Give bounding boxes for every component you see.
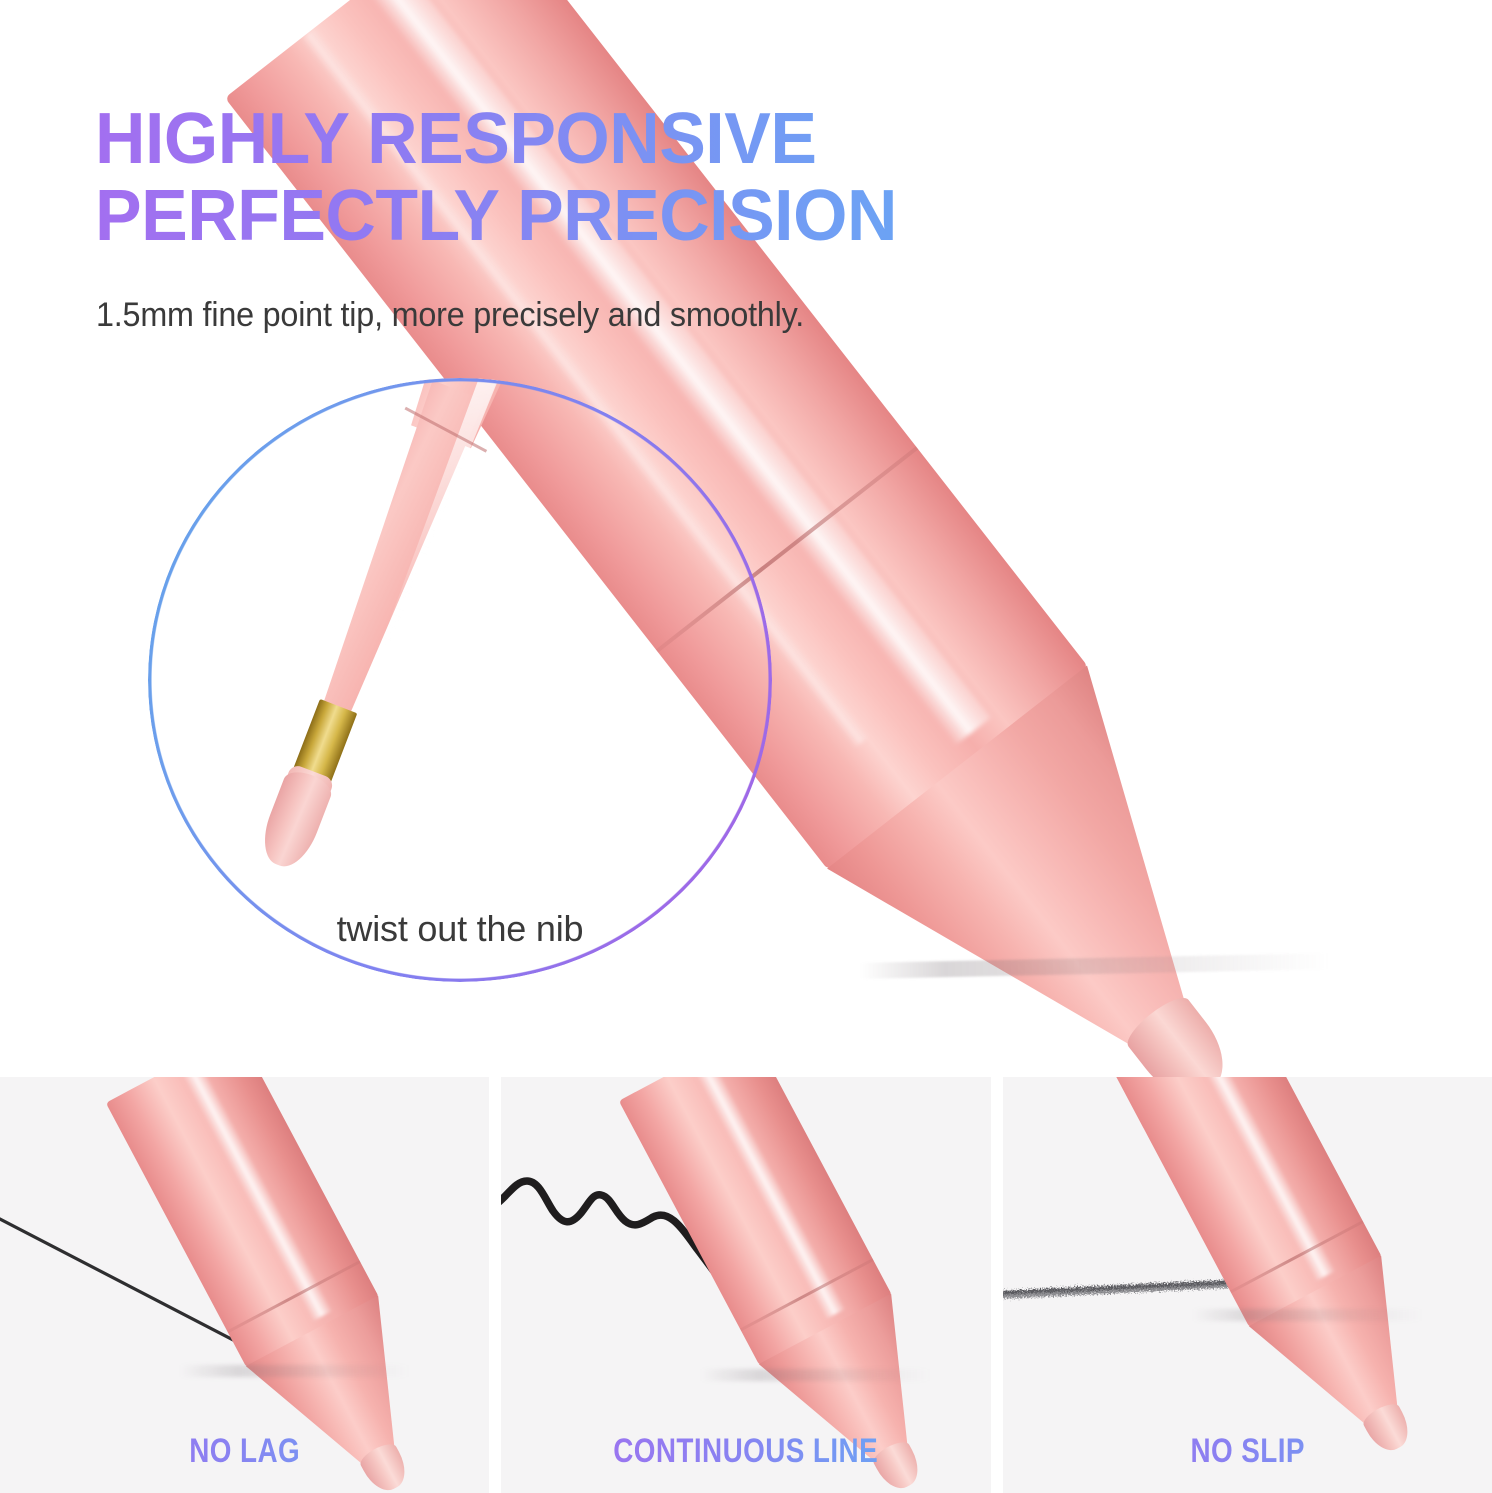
headline-line-2: PERFECTLY PRECISION: [95, 181, 1065, 252]
nib-callout-circle: [148, 378, 772, 982]
panel-no-lag: NO LAG: [0, 1077, 489, 1493]
panel1-shadow: [180, 1365, 410, 1377]
headline-line-1: HIGHLY RESPONSIVE: [95, 104, 1065, 175]
panel-no-slip: NO SLIP: [1003, 1077, 1492, 1493]
feature-panels-row: NO LAG CONTINUOUS LINE: [0, 1077, 1492, 1493]
callout-caption: twist out the nib: [148, 908, 772, 950]
panel-label-no-lag: NO LAG: [44, 1432, 445, 1471]
panel-label-continuous-line: CONTINUOUS LINE: [545, 1432, 946, 1471]
product-feature-graphic: HIGHLY RESPONSIVE PERFECTLY PRECISION 1.…: [0, 0, 1492, 1493]
panel-continuous-line: CONTINUOUS LINE: [501, 1077, 990, 1493]
panel2-shadow: [701, 1369, 931, 1381]
panel-label-no-slip: NO SLIP: [1047, 1432, 1448, 1471]
headline-block: HIGHLY RESPONSIVE PERFECTLY PRECISION: [95, 104, 1095, 251]
callout-circle-outline: [148, 378, 772, 982]
subtitle-text: 1.5mm fine point tip, more precisely and…: [96, 296, 804, 335]
panel3-shadow: [1193, 1309, 1423, 1321]
